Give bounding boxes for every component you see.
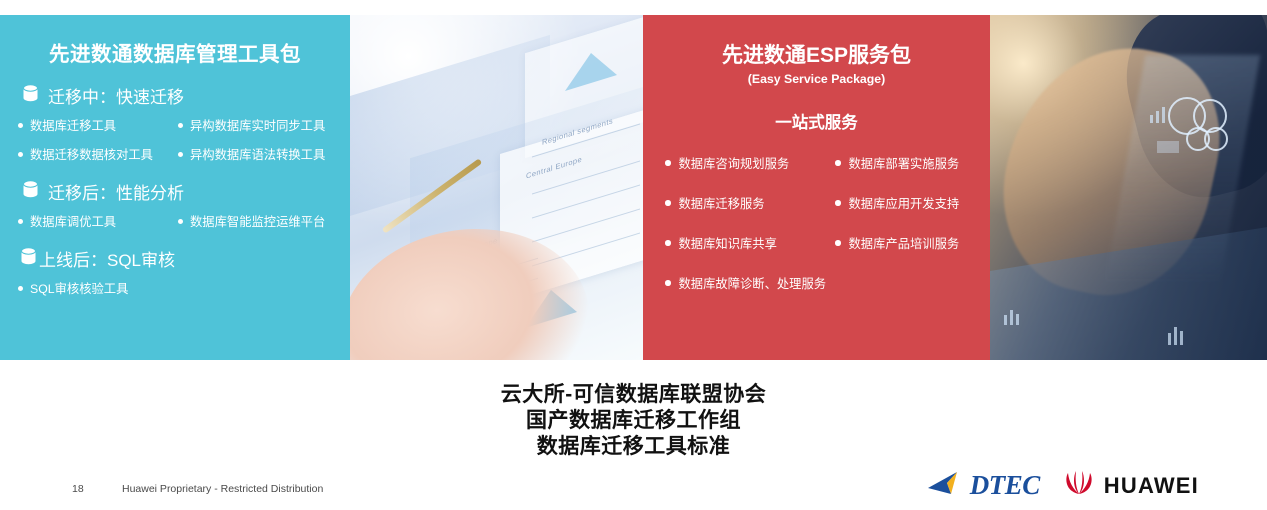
left-panel-title: 先进数通数据库管理工具包	[14, 37, 336, 67]
migration-item-grid: 数据库迁移工具 异构数据库实时同步工具 数据迁移数据核对工具 异构数据库语法转换…	[18, 116, 336, 163]
list-item: 异构数据库语法转换工具	[178, 145, 336, 163]
photo-hud-bar	[1168, 333, 1171, 345]
bullet-dot-icon	[18, 123, 23, 128]
list-item-label: 数据库智能监控运维平台	[190, 212, 325, 230]
list-item-label: 数据库迁移服务	[679, 194, 765, 212]
list-item: 数据库知识库共享	[665, 234, 835, 252]
visual-band: 先进数通数据库管理工具包 迁移中：快速迁移 数据库迁移工具	[0, 15, 1267, 360]
list-item: SQL审核核验工具	[18, 279, 336, 297]
list-item: 数据库产品培训服务	[835, 234, 974, 252]
bullet-dot-icon	[18, 219, 23, 224]
list-item-label: 数据库应用开发支持	[849, 194, 960, 212]
list-item-label: 数据库故障诊断、处理服务	[679, 274, 827, 292]
section-heading-performance: 迁移后：性能分析	[22, 179, 336, 204]
photo-hud-bar	[1150, 115, 1153, 123]
sql-audit-item-grid: SQL审核核验工具	[18, 279, 336, 297]
slide-root: 先进数通数据库管理工具包 迁移中：快速迁移 数据库迁移工具	[0, 0, 1267, 510]
photo-hud-bar	[1156, 111, 1159, 123]
right-panel-title: 先进数通ESP服务包	[659, 39, 974, 69]
section-heading-label: 迁移中：快速迁移	[48, 83, 184, 108]
right-photo-tablet-touch	[990, 15, 1267, 360]
database-icon	[22, 84, 39, 108]
dtec-arrow-icon	[927, 470, 969, 501]
page-number: 18	[72, 483, 84, 495]
middle-photo-hand-with-pen: Regional segments Central Europe East Eu…	[350, 15, 643, 360]
bullet-dot-icon	[835, 240, 841, 246]
huawei-flower-icon	[1062, 470, 1096, 501]
list-item: 数据库迁移工具	[18, 116, 178, 134]
performance-item-grid: 数据库调优工具 数据库智能监控运维平台	[18, 212, 336, 230]
photo-hud-bar	[1157, 141, 1179, 153]
caption-line-1: 云大所-可信数据库联盟协会	[0, 382, 1267, 408]
list-item-label: 异构数据库语法转换工具	[190, 145, 325, 163]
list-item-label: 数据库迁移工具	[30, 116, 116, 134]
list-item: 数据库咨询规划服务	[665, 154, 835, 172]
section-heading-sql-audit: 上线后：SQL审核	[20, 246, 336, 271]
service-item-grid: 数据库咨询规划服务 数据库部署实施服务 数据库迁移服务 数据库应用开发支持 数据…	[665, 154, 974, 292]
dtec-logo: DTEC	[927, 470, 1040, 501]
section-heading-migration: 迁移中：快速迁移	[22, 83, 336, 108]
footer-logos: DTEC HUAWEI	[927, 470, 1199, 501]
database-icon	[20, 247, 37, 271]
list-item: 数据库故障诊断、处理服务	[665, 274, 974, 292]
list-item-label: 数据库调优工具	[30, 212, 116, 230]
huawei-logo: HUAWEI	[1062, 470, 1199, 501]
confidentiality-note: Huawei Proprietary - Restricted Distribu…	[122, 483, 323, 495]
section-heading-label: 迁移后：性能分析	[48, 179, 184, 204]
list-item-label: 异构数据库实时同步工具	[190, 116, 325, 134]
photo-hud-bar	[1010, 310, 1013, 325]
list-item: 数据库迁移服务	[665, 194, 835, 212]
photo-hud-bar	[1004, 315, 1007, 325]
list-item-label: 数据库知识库共享	[679, 234, 777, 252]
bullet-dot-icon	[178, 152, 183, 157]
photo-hud-bar	[1162, 107, 1165, 123]
bullet-dot-icon	[665, 280, 671, 286]
list-item: 数据库部署实施服务	[835, 154, 974, 172]
bullet-dot-icon	[178, 219, 183, 224]
photo-hud-bar	[1016, 314, 1019, 325]
huawei-wordmark: HUAWEI	[1104, 473, 1199, 499]
right-panel-mid-title: 一站式服务	[659, 109, 974, 133]
right-service-panel: 先进数通ESP服务包 (Easy Service Package) 一站式服务 …	[643, 15, 990, 360]
list-item: 数据库调优工具	[18, 212, 178, 230]
list-item: 异构数据库实时同步工具	[178, 116, 336, 134]
bullet-dot-icon	[178, 123, 183, 128]
list-item: 数据库应用开发支持	[835, 194, 974, 212]
dtec-wordmark: DTEC	[970, 470, 1040, 501]
slide-caption: 云大所-可信数据库联盟协会 国产数据库迁移工作组 数据库迁移工具标准	[0, 382, 1267, 460]
bullet-dot-icon	[665, 200, 671, 206]
bullet-dot-icon	[665, 240, 671, 246]
photo-hud-bar	[1174, 327, 1177, 345]
database-icon	[22, 180, 39, 204]
left-product-panel: 先进数通数据库管理工具包 迁移中：快速迁移 数据库迁移工具	[0, 15, 350, 360]
list-item: 数据库智能监控运维平台	[178, 212, 336, 230]
list-item-label: 数据库产品培训服务	[849, 234, 960, 252]
photo-hud-ring	[1204, 127, 1228, 151]
list-item-label: 数据迁移数据核对工具	[30, 145, 153, 163]
bullet-dot-icon	[835, 200, 841, 206]
bullet-dot-icon	[835, 160, 841, 166]
photo-hud-bar	[1180, 331, 1183, 345]
bullet-dot-icon	[18, 152, 23, 157]
section-heading-label: 上线后：SQL审核	[39, 246, 175, 271]
bullet-dot-icon	[665, 160, 671, 166]
list-item-label: 数据库部署实施服务	[849, 154, 960, 172]
bullet-dot-icon	[18, 286, 23, 291]
right-panel-subtitle: (Easy Service Package)	[659, 72, 974, 86]
caption-line-3: 数据库迁移工具标准	[0, 434, 1267, 460]
caption-line-2: 国产数据库迁移工作组	[0, 408, 1267, 434]
list-item-label: SQL审核核验工具	[30, 279, 128, 297]
list-item-label: 数据库咨询规划服务	[679, 154, 790, 172]
list-item: 数据迁移数据核对工具	[18, 145, 178, 163]
